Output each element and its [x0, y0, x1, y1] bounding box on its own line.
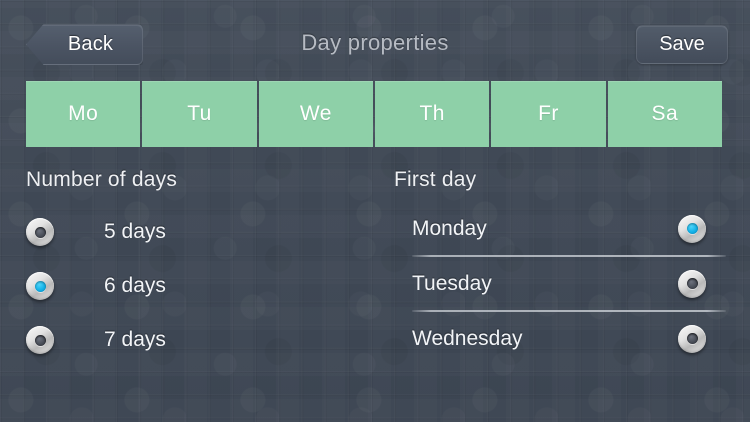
first-day-option-label: Monday [412, 217, 487, 241]
day-tab-we[interactable]: We [259, 81, 373, 147]
first-day-option-monday[interactable]: Monday [394, 202, 726, 255]
first-day-option-wednesday[interactable]: Wednesday [394, 312, 726, 365]
number-of-days-radio-group: 5 days 6 days 7 days [26, 205, 366, 367]
number-of-days-option-label: 5 days [104, 220, 166, 244]
number-of-days-heading: Number of days [26, 168, 177, 192]
day-tab-mo[interactable]: Mo [26, 81, 140, 147]
first-day-option-label: Wednesday [412, 327, 523, 351]
save-button[interactable]: Save [636, 25, 728, 64]
day-tab-label: Sa [652, 102, 679, 126]
day-tab-fr[interactable]: Fr [491, 81, 605, 147]
day-tab-sa[interactable]: Sa [608, 81, 722, 147]
number-of-days-option-7[interactable]: 7 days [26, 313, 366, 367]
radio-icon[interactable] [678, 270, 706, 298]
radio-selected-icon[interactable] [26, 272, 54, 300]
app-screen: Back Day properties Save Mo Tu We Th Fr … [0, 0, 750, 422]
radio-selected-icon[interactable] [678, 215, 706, 243]
save-button-label: Save [659, 33, 705, 56]
first-day-heading: First day [394, 168, 476, 192]
radio-icon[interactable] [26, 326, 54, 354]
day-tab-tu[interactable]: Tu [142, 81, 256, 147]
number-of-days-option-5[interactable]: 5 days [26, 205, 366, 259]
day-tab-label: Tu [187, 102, 212, 126]
day-tab-th[interactable]: Th [375, 81, 489, 147]
radio-icon[interactable] [26, 218, 54, 246]
day-tab-label: Mo [68, 102, 98, 126]
day-tab-label: Fr [538, 102, 559, 126]
navigation-bar: Back Day properties Save [0, 0, 750, 78]
radio-icon[interactable] [678, 325, 706, 353]
first-day-radio-group: Monday Tuesday Wednesday [394, 202, 726, 365]
number-of-days-option-label: 6 days [104, 274, 166, 298]
first-day-option-label: Tuesday [412, 272, 492, 296]
number-of-days-option-label: 7 days [104, 328, 166, 352]
number-of-days-option-6[interactable]: 6 days [26, 259, 366, 313]
first-day-option-tuesday[interactable]: Tuesday [394, 257, 726, 310]
day-tab-label: We [300, 102, 332, 126]
day-tab-label: Th [419, 102, 444, 126]
day-tab-strip: Mo Tu We Th Fr Sa [26, 81, 722, 147]
